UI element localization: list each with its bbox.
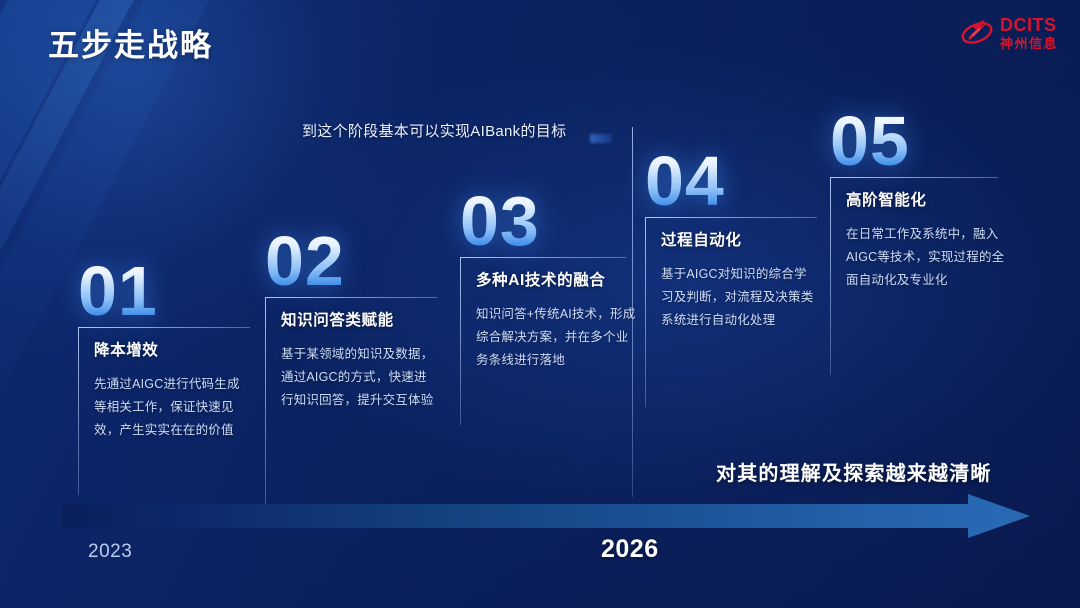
step-heading: 知识问答类赋能 (281, 308, 437, 330)
step-number: 02 (265, 228, 437, 295)
step-item-02[interactable]: 02 知识问答类赋能 基于某领域的知识及数据，通过AIGC的方式，快速进行知识回… (265, 228, 437, 412)
logo-text: DCITS 神州信息 (1000, 16, 1058, 50)
step-card: 知识问答类赋能 基于某领域的知识及数据，通过AIGC的方式，快速进行知识回答，提… (265, 297, 437, 412)
timeline-tagline: 对其的理解及探索越来越清晰 (716, 457, 992, 486)
logo-text-cn: 神州信息 (1000, 37, 1058, 50)
timeline-year-end: 2026 (601, 535, 659, 564)
step-heading: 降本增效 (94, 338, 250, 360)
step-item-03[interactable]: 03 多种AI技术的融合 知识问答+传统AI技术，形成综合解决方案，并在多个业务… (460, 188, 638, 372)
step-number: 04 (645, 148, 817, 215)
page-title: 五步走战略 (48, 20, 213, 65)
step-number: 03 (460, 188, 638, 255)
step-body: 基于某领域的知识及数据，通过AIGC的方式，快速进行知识回答，提升交互体验 (281, 343, 437, 412)
step-heading: 多种AI技术的融合 (476, 268, 638, 290)
step-item-05[interactable]: 05 高阶智能化 在日常工作及系统中，融入AIGC等技术，实现过程的全面自动化及… (830, 108, 1006, 292)
step-heading: 高阶智能化 (846, 188, 1006, 210)
slide-header: 五步走战略 DCITS 神州信息 (0, 0, 1080, 78)
annotation-blip (590, 134, 612, 143)
step-body: 先通过AIGC进行代码生成等相关工作，保证快速见效，产生实实在在的价值 (94, 373, 250, 442)
step-number: 01 (78, 258, 250, 325)
step-number: 05 (830, 108, 1006, 175)
step-card: 过程自动化 基于AIGC对知识的综合学习及判断，对流程及决策类系统进行自动化处理 (645, 217, 817, 332)
step-card: 多种AI技术的融合 知识问答+传统AI技术，形成综合解决方案，并在多个业务条线进… (460, 257, 638, 372)
step-body: 在日常工作及系统中，融入AIGC等技术，实现过程的全面自动化及专业化 (846, 223, 1006, 292)
step-body: 知识问答+传统AI技术，形成综合解决方案，并在多个业务条线进行落地 (476, 303, 638, 372)
step-heading: 过程自动化 (661, 228, 817, 250)
slide-canvas: 五步走战略 DCITS 神州信息 到这个阶段基本可以实现AIBank的目标 01… (0, 0, 1080, 608)
company-logo: DCITS 神州信息 (961, 16, 1058, 50)
step-card: 高阶智能化 在日常工作及系统中，融入AIGC等技术，实现过程的全面自动化及专业化 (830, 177, 1006, 292)
step-item-04[interactable]: 04 过程自动化 基于AIGC对知识的综合学习及判断，对流程及决策类系统进行自动… (645, 148, 817, 332)
step-card: 降本增效 先通过AIGC进行代码生成等相关工作，保证快速见效，产生实实在在的价值 (78, 327, 250, 442)
right-arrow-icon (62, 494, 1030, 538)
step-body: 基于AIGC对知识的综合学习及判断，对流程及决策类系统进行自动化处理 (661, 263, 817, 332)
stage-annotation: 到这个阶段基本可以实现AIBank的目标 (302, 120, 566, 141)
step-item-01[interactable]: 01 降本增效 先通过AIGC进行代码生成等相关工作，保证快速见效，产生实实在在… (78, 258, 250, 442)
dcits-swoosh-icon (961, 18, 993, 48)
logo-text-en: DCITS (1000, 16, 1058, 34)
timeline-year-start: 2023 (88, 541, 132, 563)
